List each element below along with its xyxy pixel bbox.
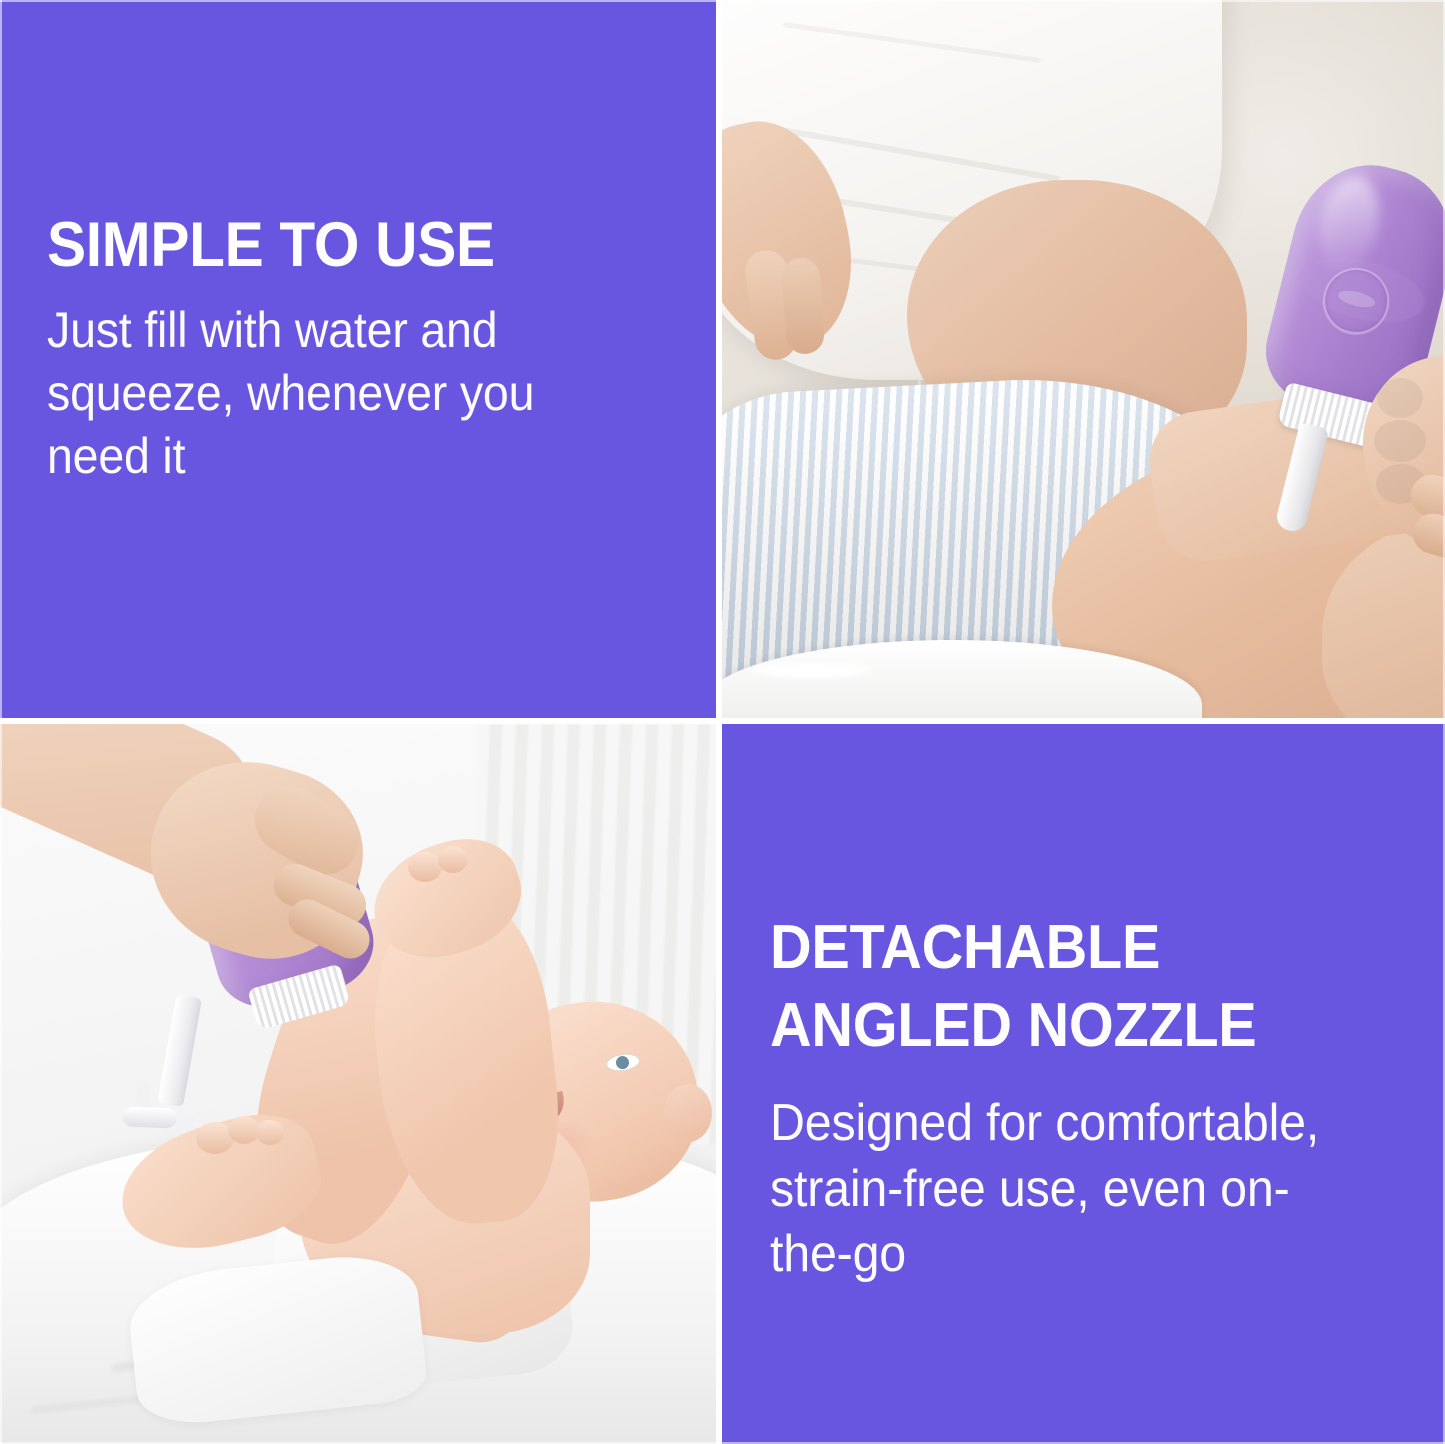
product-infographic: SIMPLE TO USE Just fill with water and s… [0,0,1445,1444]
simple-to-use-subline: Just fill with water and squeeze, whenev… [47,299,628,488]
toilet-highlight [752,662,872,678]
baby-toe [408,852,442,882]
baby-changing-photo [0,724,716,1444]
simple-to-use-headline: SIMPLE TO USE [47,206,628,285]
nozzle-tip [122,1107,177,1129]
panel-baby-photo [0,724,716,1444]
knuckle [1377,378,1423,418]
panel-simple-to-use: SIMPLE TO USE Just fill with water and s… [0,0,716,718]
baby-toe [438,846,468,873]
detachable-nozzle-subline: Designed for comfortable, strain-free us… [770,1091,1361,1288]
finger [781,257,826,355]
postpartum-use-photo [722,0,1445,718]
detachable-nozzle-headline: DETACHABLE ANGLED NOZZLE [770,909,1361,1065]
detachable-nozzle-text-block: DETACHABLE ANGLED NOZZLE Designed for co… [770,909,1405,1288]
baby-ear [664,1084,712,1142]
panel-postpartum-photo [722,0,1445,718]
simple-to-use-text-block: SIMPLE TO USE Just fill with water and s… [47,206,672,488]
knuckle [1374,420,1426,462]
baby-toe [256,1120,284,1145]
panel-detachable-angled-nozzle: DETACHABLE ANGLED NOZZLE Designed for co… [722,724,1445,1444]
angled-nozzle [146,993,214,1139]
